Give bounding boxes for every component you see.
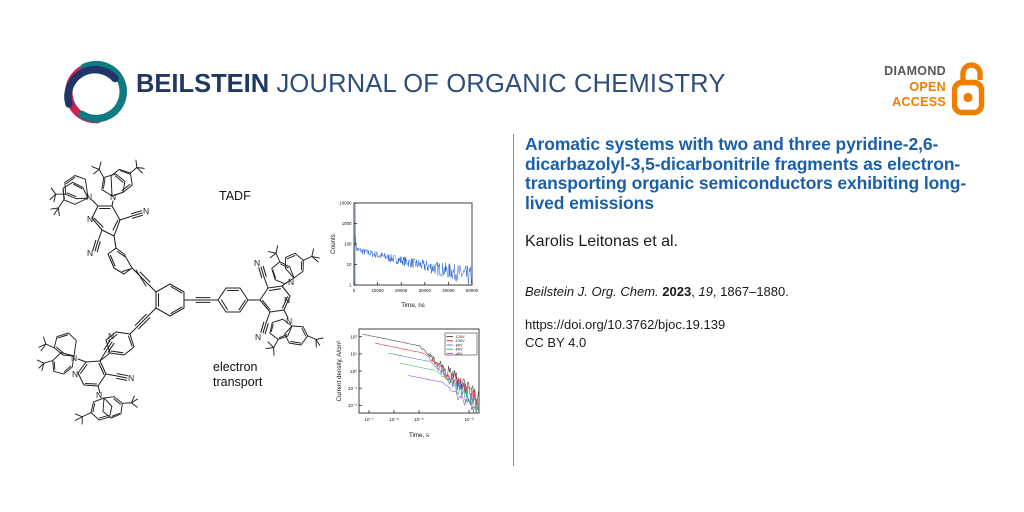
open-lock-icon	[952, 60, 988, 116]
chart-photoluminescence-decay: #chart1-svg .tk{font-family:"Liberation …	[325, 195, 485, 313]
svg-text:N: N	[87, 214, 93, 224]
chart1-xtick: 10000	[371, 288, 384, 293]
chart1-ylabel: Counts	[330, 234, 337, 254]
chart2-ylabel: Current density, A/cm²	[336, 341, 343, 402]
svg-text:N: N	[128, 373, 134, 383]
chart2-ytick: 10¹	[350, 352, 357, 357]
citation-journal: Beilstein J. Org. Chem.	[525, 284, 659, 299]
chart1-xtick: 50000	[466, 288, 479, 293]
chart1-ytick: 1	[349, 283, 352, 288]
chart1-xtick: 20000	[395, 288, 408, 293]
oa-line-open: OPEN	[868, 80, 946, 96]
label-electron-transport-line1: electron	[213, 360, 257, 374]
chart1-ytick: 1000	[342, 221, 352, 226]
chart1-ytick: 100	[344, 242, 352, 247]
chart2-xtick: 10⁻⁵	[414, 417, 424, 422]
svg-text:N: N	[255, 332, 261, 342]
chart2-xtick: 10⁻⁷	[364, 417, 374, 422]
article-authors: Karolis Leitonas et al.	[525, 233, 995, 251]
svg-text:N: N	[254, 258, 260, 268]
svg-text:N: N	[284, 295, 290, 305]
chart1-ytick: 10000	[339, 201, 352, 206]
brand-subtitle: JOURNAL OF ORGANIC CHEMISTRY	[276, 70, 725, 98]
article-citation: Beilstein J. Org. Chem. 2023, 19, 1867–1…	[525, 283, 995, 300]
panel-divider	[513, 134, 514, 466]
chart2-ytick: 10⁻²	[348, 403, 358, 408]
article-doi-link[interactable]: https://doi.org/10.3762/bjoc.19.139	[525, 316, 995, 334]
chart2-ytick: 10²	[350, 335, 357, 340]
chart1-xlabel: Time, ns	[401, 302, 425, 309]
chart2-ytick: 10⁰	[350, 369, 357, 374]
label-tadf: TADF	[219, 189, 251, 204]
citation-volume: 19	[698, 284, 712, 299]
chart1-xtick: 30000	[419, 288, 432, 293]
label-electron-transport: electron transport	[213, 360, 262, 389]
svg-text:N: N	[286, 316, 292, 326]
brand-beilstein: BEILSTEIN	[136, 70, 269, 98]
doi-license-block: https://doi.org/10.3762/bjoc.19.139 CC B…	[525, 316, 995, 351]
chemical-structure-diagram: .at{font-family:"Liberation Sans",sans-s…	[24, 140, 324, 445]
citation-year: 2023	[662, 284, 691, 299]
chart2-xlabel: Time, s	[409, 432, 429, 439]
chart2-legend-item: -40V	[455, 352, 463, 356]
chart-transient-current-density: #chart2-svg .tk{font-family:"Liberation …	[333, 315, 493, 445]
article-title: Aromatic systems with two and three pyri…	[525, 135, 995, 213]
svg-text:N: N	[143, 206, 149, 216]
label-electron-transport-line2: transport	[213, 375, 262, 389]
chart1-ytick: 10	[347, 262, 352, 267]
oa-line-access: ACCESS	[868, 95, 946, 111]
svg-text:N: N	[72, 369, 78, 379]
svg-text:N: N	[87, 248, 93, 258]
citation-pages: 1867–1880.	[720, 284, 789, 299]
oa-line-diamond: DIAMOND	[868, 64, 946, 80]
chart2-xtick: 10⁻³	[464, 417, 474, 422]
page-header: BEILSTEIN JOURNAL OF ORGANIC CHEMISTRY D…	[0, 0, 1024, 135]
chart1-xtick: 40000	[442, 288, 455, 293]
beilstein-swirl-logo	[58, 57, 128, 125]
chart2-ytick: 10⁻¹	[348, 386, 358, 391]
diamond-open-access-badge: DIAMOND OPEN ACCESS	[868, 60, 988, 122]
chart1-xtick: 0	[353, 288, 356, 293]
chart2-xtick: 10⁻⁶	[389, 417, 399, 422]
article-license: CC BY 4.0	[525, 334, 995, 352]
article-info-panel: Aromatic systems with two and three pyri…	[525, 135, 995, 351]
journal-brand: BEILSTEIN JOURNAL OF ORGANIC CHEMISTRY	[136, 70, 726, 99]
svg-text:N: N	[108, 331, 114, 341]
graphical-abstract-panel: .at{font-family:"Liberation Sans",sans-s…	[0, 135, 513, 480]
